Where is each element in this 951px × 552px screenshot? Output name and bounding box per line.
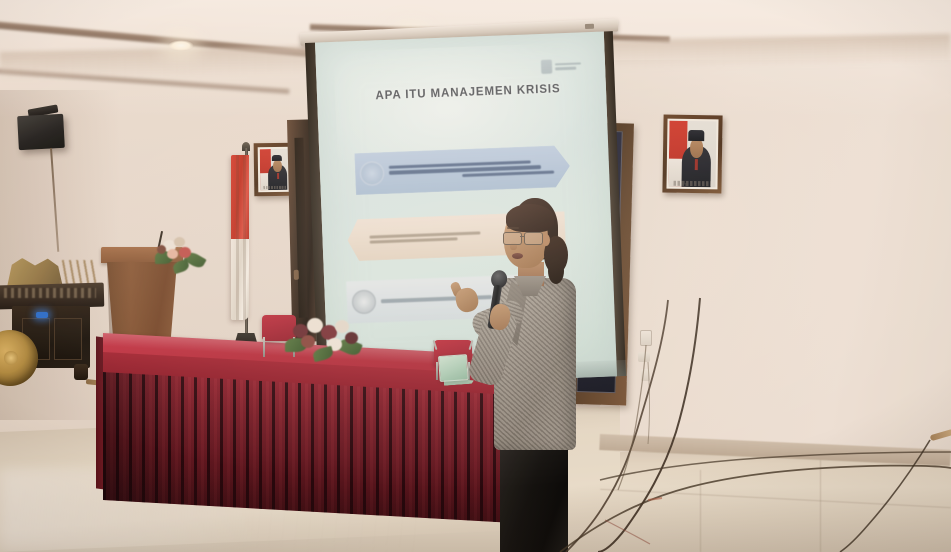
seminar-photo: APA ITU MANAJEMEN KRISIS [0, 0, 951, 552]
floor-cables [0, 0, 951, 552]
